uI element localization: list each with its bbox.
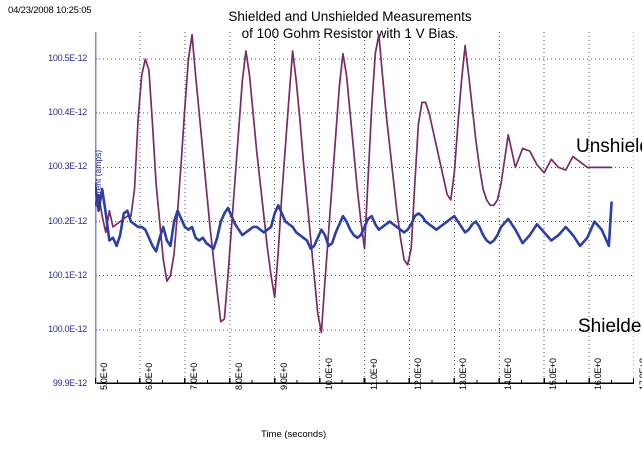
x-tick-label: 6.0E+0 xyxy=(144,363,154,390)
y-tick-label: 100.2E-12 xyxy=(27,216,87,226)
y-tick-label: 100.1E-12 xyxy=(27,270,87,280)
y-tick-label: 100.0E-12 xyxy=(27,324,87,334)
chart-screenshot: 04/23/2008 10:25:05 Shielded and Unshiel… xyxy=(0,0,642,455)
y-tick-label: 100.3E-12 xyxy=(27,161,87,171)
series-annotation-shielded: Shielded xyxy=(578,316,642,338)
x-tick-label: 17.0E+0 xyxy=(638,358,642,390)
series-lines xyxy=(95,35,612,333)
chart-title-line-1: Shielded and Unshielded Measurements xyxy=(228,9,471,24)
x-tick-label: 11.0E+0 xyxy=(369,359,379,390)
y-tick-label: 99.9E-12 xyxy=(27,378,87,388)
x-tick-label: 7.0E+0 xyxy=(189,363,199,390)
y-axis-title: Current (amps) xyxy=(93,150,103,207)
x-tick-label: 8.0E+0 xyxy=(234,363,244,390)
x-tick-label: 5.0E+0 xyxy=(99,363,109,390)
x-tick-label: 15.0E+0 xyxy=(548,358,558,390)
y-tick-label: 100.5E-12 xyxy=(27,53,87,63)
x-tick-label: 10.0E+0 xyxy=(324,358,334,390)
x-tick-label: 13.0E+0 xyxy=(458,358,468,390)
plot-area: Current (amps) 100.5E-12100.4E-12100.3E-… xyxy=(95,32,634,384)
gridlines xyxy=(95,32,634,384)
series-annotation-unshielded: Unshielded xyxy=(576,136,642,158)
chart-svg xyxy=(95,32,634,384)
capture-timestamp: 04/23/2008 10:25:05 xyxy=(8,5,91,16)
y-tick-label: 100.4E-12 xyxy=(27,107,87,117)
x-tick-label: 12.0E+0 xyxy=(413,358,423,390)
x-axis-title: Time (seconds) xyxy=(261,429,326,440)
x-tick-label: 14.0E+0 xyxy=(503,358,513,390)
x-tick-label: 16.0E+0 xyxy=(593,358,603,390)
x-tick-label: 9.0E+0 xyxy=(279,363,289,390)
